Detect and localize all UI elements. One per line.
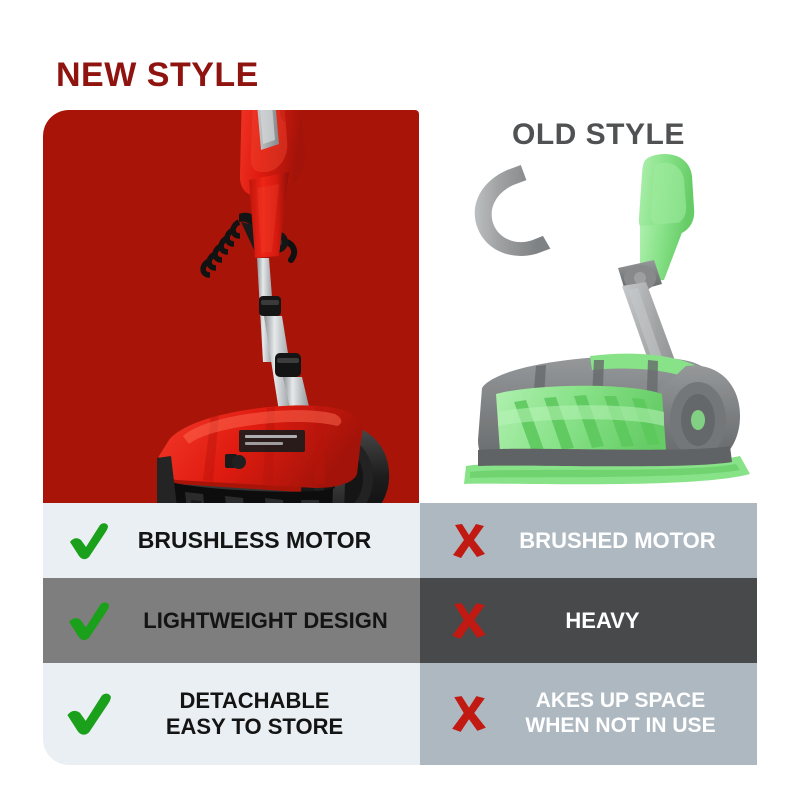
comparison-infographic: NEW STYLE OLD STYLE xyxy=(0,0,800,800)
comparison-label-old-1: BRUSHED MOTOR xyxy=(498,528,757,554)
comparison-label-new-3: DETACHABLE EASY TO STORE xyxy=(117,688,420,740)
cross-icon xyxy=(440,522,498,560)
comparison-cell-new-1: BRUSHLESS MOTOR xyxy=(43,503,420,578)
comparison-label-old-2: HEAVY xyxy=(498,608,757,634)
table-row: DETACHABLE EASY TO STORE AKES UP SPACE W… xyxy=(43,663,757,765)
cross-icon xyxy=(440,601,498,641)
cross-icon xyxy=(440,694,498,734)
table-row: BRUSHLESS MOTOR BRUSHED MOTOR xyxy=(43,503,757,578)
comparison-label-new-2: LIGHTWEIGHT DESIGN xyxy=(117,608,420,634)
table-row: LIGHTWEIGHT DESIGN HEAVY xyxy=(43,578,757,663)
new-style-heading: NEW STYLE xyxy=(56,56,259,95)
comparison-label-old-3: AKES UP SPACE WHEN NOT IN USE xyxy=(498,689,757,739)
comparison-cell-old-2: HEAVY xyxy=(420,578,757,663)
old-style-product-image xyxy=(440,150,790,505)
check-icon xyxy=(59,521,117,561)
comparison-cell-new-3: DETACHABLE EASY TO STORE xyxy=(43,663,420,765)
product-housing-label xyxy=(239,430,305,452)
check-icon xyxy=(59,600,117,642)
comparison-cell-old-1: BRUSHED MOTOR xyxy=(420,503,757,578)
old-style-panel xyxy=(440,150,790,505)
comparison-table: BRUSHLESS MOTOR BRUSHED MOTOR LIGH xyxy=(43,503,757,765)
new-style-product-image xyxy=(43,110,419,503)
check-icon xyxy=(59,691,117,737)
old-style-heading: OLD STYLE xyxy=(512,118,685,152)
new-style-panel xyxy=(43,110,419,503)
comparison-cell-old-3: AKES UP SPACE WHEN NOT IN USE xyxy=(420,663,757,765)
comparison-label-new-1: BRUSHLESS MOTOR xyxy=(117,527,420,554)
comparison-cell-new-2: LIGHTWEIGHT DESIGN xyxy=(43,578,420,663)
